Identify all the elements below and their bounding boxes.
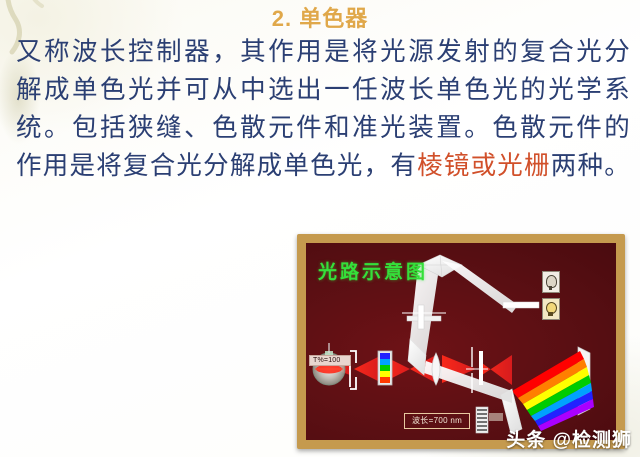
body-line-4-prefix: 作用是将复合光分解成单色光，有 [16,151,417,180]
body-line-2: 解成单色光并可从中选出一任波长单色光的光学系 [16,71,630,109]
optical-diagram-canvas: 光路示意图 T%=100 波长=700 nm [306,243,616,440]
readout-meter [476,407,503,433]
rainbow-dispersion-bands [512,351,594,431]
readout-lamp-icon [542,298,560,320]
body-line-3: 统。包括狭缝、色散元件和准光装置。色散元件的 [16,109,630,147]
body-line-4-suffix: 两种。 [551,151,630,180]
slide-canvas: 2. 单色器 又称波长控制器，其作用是将光源发射的复合光分 解成单色光并可从中选… [0,0,640,457]
color-filter [378,351,392,385]
page-title: 2. 单色器 [0,1,640,33]
beam-exitslit-to-grating [482,355,512,385]
diffraction-grating [512,347,594,431]
optical-diagram-frame: 光路示意图 T%=100 波长=700 nm [297,234,625,449]
wavelength-readout: 波长=700 nm [404,413,470,429]
beam-slit-to-filter [354,356,380,382]
body-paragraph: 又称波长控制器，其作用是将光源发射的复合光分 解成单色光并可从中选出一任波长单色… [16,33,630,185]
body-line-1: 又称波长控制器，其作用是将光源发射的复合光分 [16,33,630,71]
diagram-title: 光路示意图 [318,257,428,284]
highlighted-term: 棱镜或光栅 [417,151,551,180]
body-line-4: 作用是将复合光分解成单色光，有棱镜或光栅两种。 [16,147,630,185]
sample-cell [402,305,446,329]
detector-icon [542,271,560,293]
transmittance-readout: T%=100 [309,355,351,366]
detector-connector-bar [503,302,539,308]
watermark: 头条 @检测狮 [506,425,632,452]
